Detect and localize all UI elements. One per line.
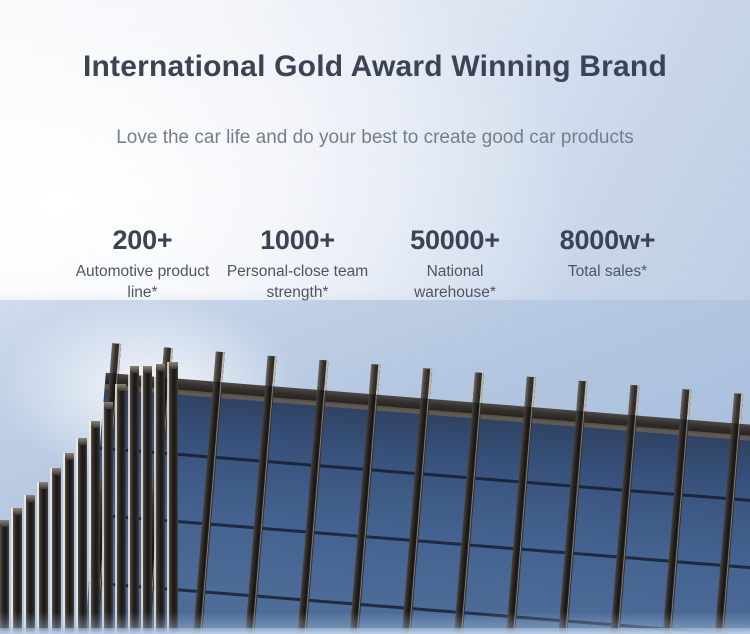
bottom-light-band [0,628,750,634]
stat-label: Total sales* [541,261,675,282]
stat-number: 50000+ [386,225,525,255]
stat-item: 1000+ Personal-close team strength* [218,225,378,303]
stat-label: Automotive product line* [76,261,210,303]
stat-item: 200+ Automotive product line* [68,225,218,303]
page-title: International Gold Award Winning Brand [0,50,750,84]
side-fin [156,364,165,634]
stat-number: 8000w+ [541,225,675,255]
stats-row: 200+ Automotive product line* 1000+ Pers… [40,225,710,303]
building-photo [0,300,750,634]
stat-number: 200+ [76,225,210,255]
stat-item: 8000w+ Total sales* [533,225,683,282]
side-fin [104,402,113,634]
side-fin [91,421,100,634]
side-fin [52,468,61,634]
hero-content: International Gold Award Winning Brand L… [0,0,750,340]
side-fin [65,453,74,634]
stat-label: Personal-close team strength* [226,261,370,303]
page-subtitle: Love the car life and do your best to cr… [95,123,655,153]
side-fin [117,384,126,634]
promo-banner: International Gold Award Winning Brand L… [0,0,750,634]
side-fin [143,366,152,634]
side-fin-bank [0,300,200,634]
side-fin [130,366,139,634]
stat-item: 50000+ National warehouse* [378,225,533,303]
stat-label: National warehouse* [386,261,525,303]
side-fin [78,438,87,634]
stat-number: 1000+ [226,225,370,255]
side-fin [169,362,178,634]
